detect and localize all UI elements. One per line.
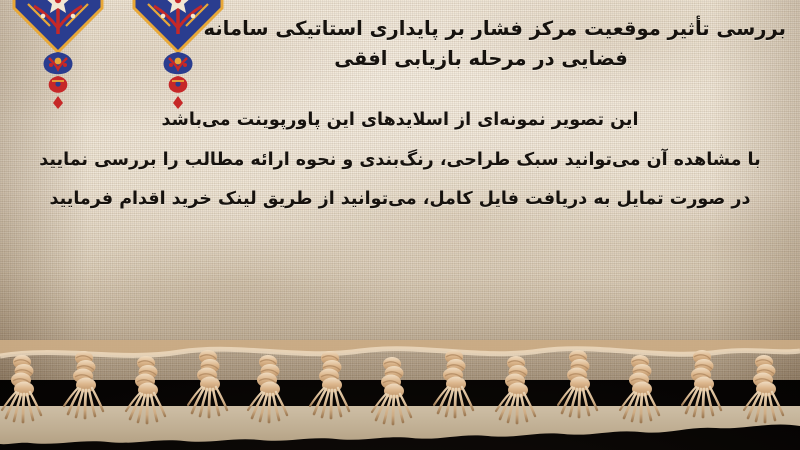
slide-title: بررسی تأثیر موقعیت مرکز فشار بر پایداری … (210, 14, 786, 74)
slide-title-line-2: فضایی در مرحله بازیابی افقی (210, 44, 786, 74)
body-line-1: این تصویر نمونه‌ای از اسلایدهای این پاور… (0, 112, 800, 130)
slide-text-layer: بررسی تأثیر موقعیت مرکز فشار بر پایداری … (0, 0, 800, 450)
slide-body-text: این تصویر نمونه‌ای از اسلایدهای این پاور… (0, 112, 800, 209)
body-line-3: در صورت تمایل به دریافت فایل کامل، می‌تو… (0, 191, 800, 209)
slide-title-line-1: بررسی تأثیر موقعیت مرکز فشار بر پایداری … (210, 14, 786, 44)
body-line-2: با مشاهده آن می‌توانید سبک طراحی، رنگ‌بن… (0, 152, 800, 170)
presentation-slide: بررسی تأثیر موقعیت مرکز فشار بر پایداری … (0, 0, 800, 450)
